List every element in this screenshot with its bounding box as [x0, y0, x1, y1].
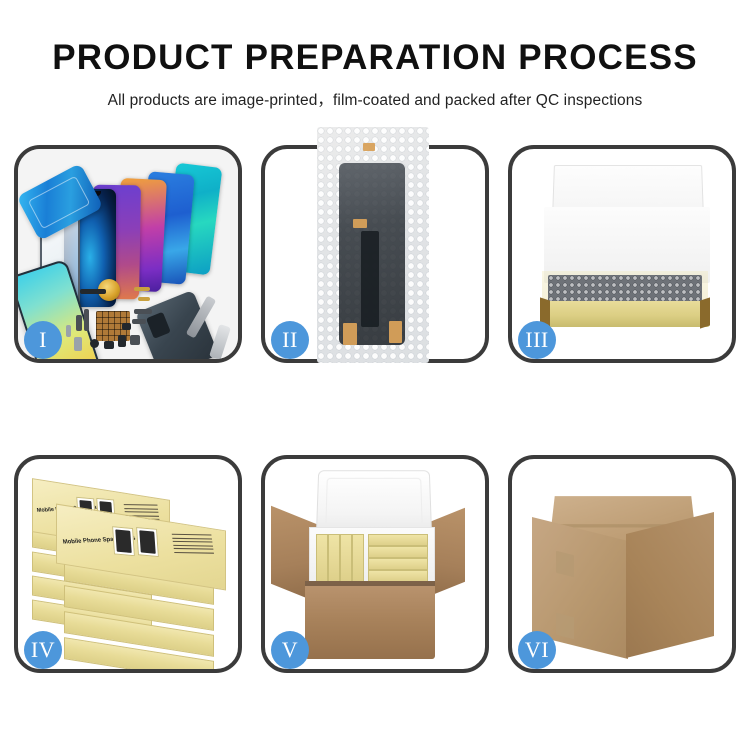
page-title: PRODUCT PREPARATION PROCESS — [0, 40, 750, 77]
step-panel-6: VI — [508, 455, 736, 673]
carton-tape-upper — [556, 551, 574, 577]
spare-part-strip — [80, 289, 106, 294]
spare-part-sim-tray — [74, 337, 82, 351]
packed-retail-box-7 — [368, 558, 428, 570]
styrofoam-insert — [309, 527, 435, 589]
spare-part-gold-strip — [134, 287, 150, 291]
step-panel-2: II — [261, 145, 489, 363]
process-steps-grid: I II III — [14, 145, 736, 673]
tape-piece-middle — [353, 219, 367, 228]
kraft-box-front-panel — [540, 301, 710, 327]
step-panel-4: Mobile Phone Spare Parts Mobile Phone Sp… — [14, 455, 242, 673]
kraft-box-right-tab — [700, 297, 710, 328]
spare-part-module — [118, 335, 126, 347]
carton-tape-lower — [556, 613, 574, 639]
spare-part-flex-cable-2 — [76, 315, 82, 331]
packed-retail-box-5 — [368, 534, 428, 546]
wrapped-flex-cable — [361, 231, 379, 327]
step-panel-3: III — [508, 145, 736, 363]
box-label-phone-image-front-1 — [112, 526, 135, 556]
step-badge-5: V — [271, 631, 309, 669]
spare-part-connector — [134, 309, 152, 314]
page-subtitle: All products are image-printed，film-coat… — [0, 88, 750, 110]
spare-part-flex-cable — [84, 309, 89, 331]
spare-part-gold-strip-2 — [138, 297, 150, 301]
retail-box-stack: Mobile Phone Spare Parts Mobile Phone Sp… — [30, 475, 234, 663]
tape-piece-bottom-right — [389, 321, 402, 343]
step-badge-3: III — [518, 321, 556, 359]
step-panel-1: I — [14, 145, 242, 363]
tape-piece-bottom-left — [343, 323, 357, 345]
spare-part-module-2 — [130, 335, 140, 345]
step-badge-1: I — [24, 321, 62, 359]
packed-retail-box-3 — [340, 534, 352, 582]
spare-part-camera — [90, 339, 99, 348]
step-badge-6: VI — [518, 631, 556, 669]
spare-part-speaker — [104, 341, 114, 349]
box-label-lines-front — [172, 534, 215, 556]
step-badge-4: IV — [24, 631, 62, 669]
page-header: PRODUCT PREPARATION PROCESS All products… — [0, 0, 750, 110]
spare-part-module-3 — [122, 323, 131, 330]
carton-body — [305, 581, 435, 659]
shipping-carton — [528, 483, 720, 653]
step-badge-2: II — [271, 321, 309, 359]
carton-right-face — [626, 512, 714, 658]
packed-retail-box-6 — [368, 546, 428, 558]
step-panel-5: V — [261, 455, 489, 673]
spare-part-connector-2 — [132, 319, 146, 324]
spare-part-pin — [66, 325, 71, 337]
packed-retail-box-1 — [316, 534, 328, 582]
box-label-phone-image-front-2 — [136, 527, 159, 557]
packed-retail-box-2 — [328, 534, 340, 582]
bubble-wrap-sleeve — [317, 127, 429, 363]
tape-piece-top — [363, 143, 375, 151]
packed-retail-box-4 — [352, 534, 364, 582]
